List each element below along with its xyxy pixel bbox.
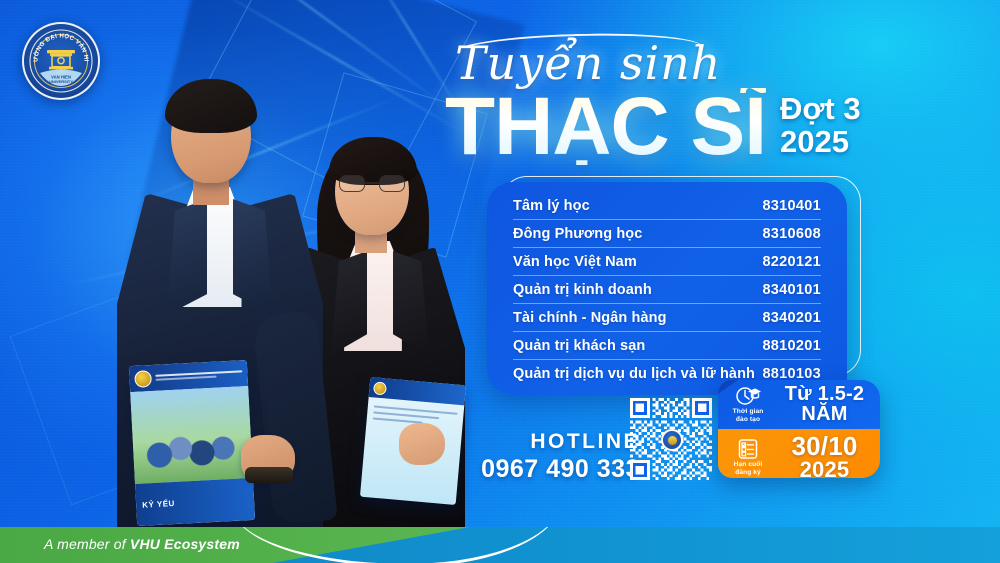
- footer-bar: A member of VHU Ecosystem: [0, 527, 1000, 563]
- program-code: 8220121: [762, 254, 821, 270]
- programs-card-wrapper: Tâm lý học 8310401 Đông Phương học 83106…: [487, 182, 847, 395]
- footer-brand: VHU Ecosystem: [130, 536, 240, 552]
- duration-caption-line1: Thời gian: [733, 408, 764, 415]
- brochure-title-lines: [155, 370, 242, 381]
- table-row: Quản trị khách sạn 8810201: [513, 332, 821, 360]
- brochure-footer: KỶ YẾU: [135, 478, 255, 526]
- table-row: Quản trị kinh doanh 8340101: [513, 276, 821, 304]
- program-name: Đông Phương học: [513, 226, 642, 242]
- svg-text:UNIVERSITY: UNIVERSITY: [49, 79, 73, 84]
- male-student: KỶ YẾU: [115, 63, 325, 563]
- program-code: 8310401: [762, 198, 821, 214]
- deadline-value: 30/10 2025: [777, 433, 872, 478]
- headline-script: Tuyển sinh: [445, 40, 965, 86]
- table-row: Tài chính - Ngân hàng 8340201: [513, 304, 821, 332]
- qr-code[interactable]: [630, 398, 712, 480]
- brochure-photo: [130, 386, 253, 484]
- footer-prefix: A member of: [44, 536, 130, 552]
- checklist-clipboard-icon: [737, 438, 759, 460]
- university-logo[interactable]: TRƯỜNG ĐẠI HỌC VĂN HIẾN 1997 VAN HIEN UN…: [22, 22, 100, 100]
- hotline-number[interactable]: 0967 490 333: [470, 455, 640, 484]
- duration-section: Thời gian đào tạo Từ 1.5-2 NĂM: [718, 380, 880, 429]
- admissions-banner: KỶ YẾU TRƯỜNG ĐẠI HỌC VĂN HIẾN 1997 VAN …: [0, 0, 1000, 563]
- qr-center-logo: [661, 429, 683, 451]
- program-name: Quản trị kinh doanh: [513, 282, 652, 298]
- program-code: 8810201: [762, 338, 821, 354]
- program-code: 8310608: [762, 226, 821, 242]
- table-row: Đông Phương học 8310608: [513, 220, 821, 248]
- headline-title-row: THẠC SĨ Đợt 3 2025: [445, 88, 965, 165]
- hotline-block: HOTLINE 0967 490 333: [470, 430, 640, 484]
- program-name: Văn học Việt Nam: [513, 254, 637, 270]
- program-name: Quản trị khách sạn: [513, 338, 645, 354]
- duration-icon-group: Thời gian đào tạo: [725, 385, 771, 424]
- table-row: Tâm lý học 8310401: [513, 192, 821, 220]
- brochure: KỶ YẾU: [129, 360, 255, 526]
- deadline-value-line1: 30/10: [777, 433, 872, 460]
- wristwatch-icon: [245, 467, 293, 483]
- deadline-value-line2: 2025: [777, 459, 872, 478]
- program-name: Tài chính - Ngân hàng: [513, 310, 667, 326]
- clock-graduation-cap-icon: [735, 385, 761, 407]
- program-name: Tâm lý học: [513, 198, 590, 214]
- seal-icon: [373, 381, 387, 395]
- program-code: 8340101: [762, 282, 821, 298]
- deadline-section: Hạn cuối đăng ký 30/10 2025: [718, 429, 880, 478]
- intake-badge: Đợt 3 2025: [780, 93, 861, 165]
- info-badge: Thời gian đào tạo Từ 1.5-2 NĂM: [718, 380, 880, 478]
- intake-line1: Đợt 3: [780, 93, 861, 126]
- table-row: Văn học Việt Nam 8220121: [513, 248, 821, 276]
- duration-value-line1: Từ 1.5-2: [777, 384, 872, 404]
- glasses-icon: [339, 175, 405, 192]
- hand: [399, 423, 445, 465]
- seal-icon: [134, 370, 152, 388]
- programs-card: Tâm lý học 8310401 Đông Phương học 83106…: [487, 182, 847, 395]
- hotline-label: HOTLINE: [470, 430, 640, 454]
- headline-block: Tuyển sinh THẠC SĨ Đợt 3 2025: [445, 40, 965, 165]
- intake-line2: 2025: [780, 126, 861, 159]
- deadline-caption-line2: đăng ký: [735, 469, 761, 476]
- svg-text:TRƯỜNG ĐẠI HỌC VĂN HIẾN: TRƯỜNG ĐẠI HỌC VĂN HIẾN: [28, 28, 90, 62]
- students-photo: KỶ YẾU: [105, 33, 465, 563]
- program-name: Quản trị dịch vụ du lịch và lữ hành: [513, 366, 755, 382]
- deadline-caption-line1: Hạn cuối: [734, 461, 763, 468]
- duration-value-line2: NĂM: [777, 404, 872, 424]
- duration-caption-line2: đào tạo: [736, 416, 760, 423]
- deadline-icon-group: Hạn cuối đăng ký: [725, 438, 771, 477]
- hair: [165, 79, 257, 133]
- program-code: 8340201: [762, 310, 821, 326]
- duration-value: Từ 1.5-2 NĂM: [777, 384, 872, 425]
- footer-text: A member of VHU Ecosystem: [44, 536, 240, 552]
- page-title: THẠC SĨ: [445, 88, 766, 165]
- university-seal-icon: TRƯỜNG ĐẠI HỌC VĂN HIẾN 1997 VAN HIEN UN…: [28, 28, 94, 94]
